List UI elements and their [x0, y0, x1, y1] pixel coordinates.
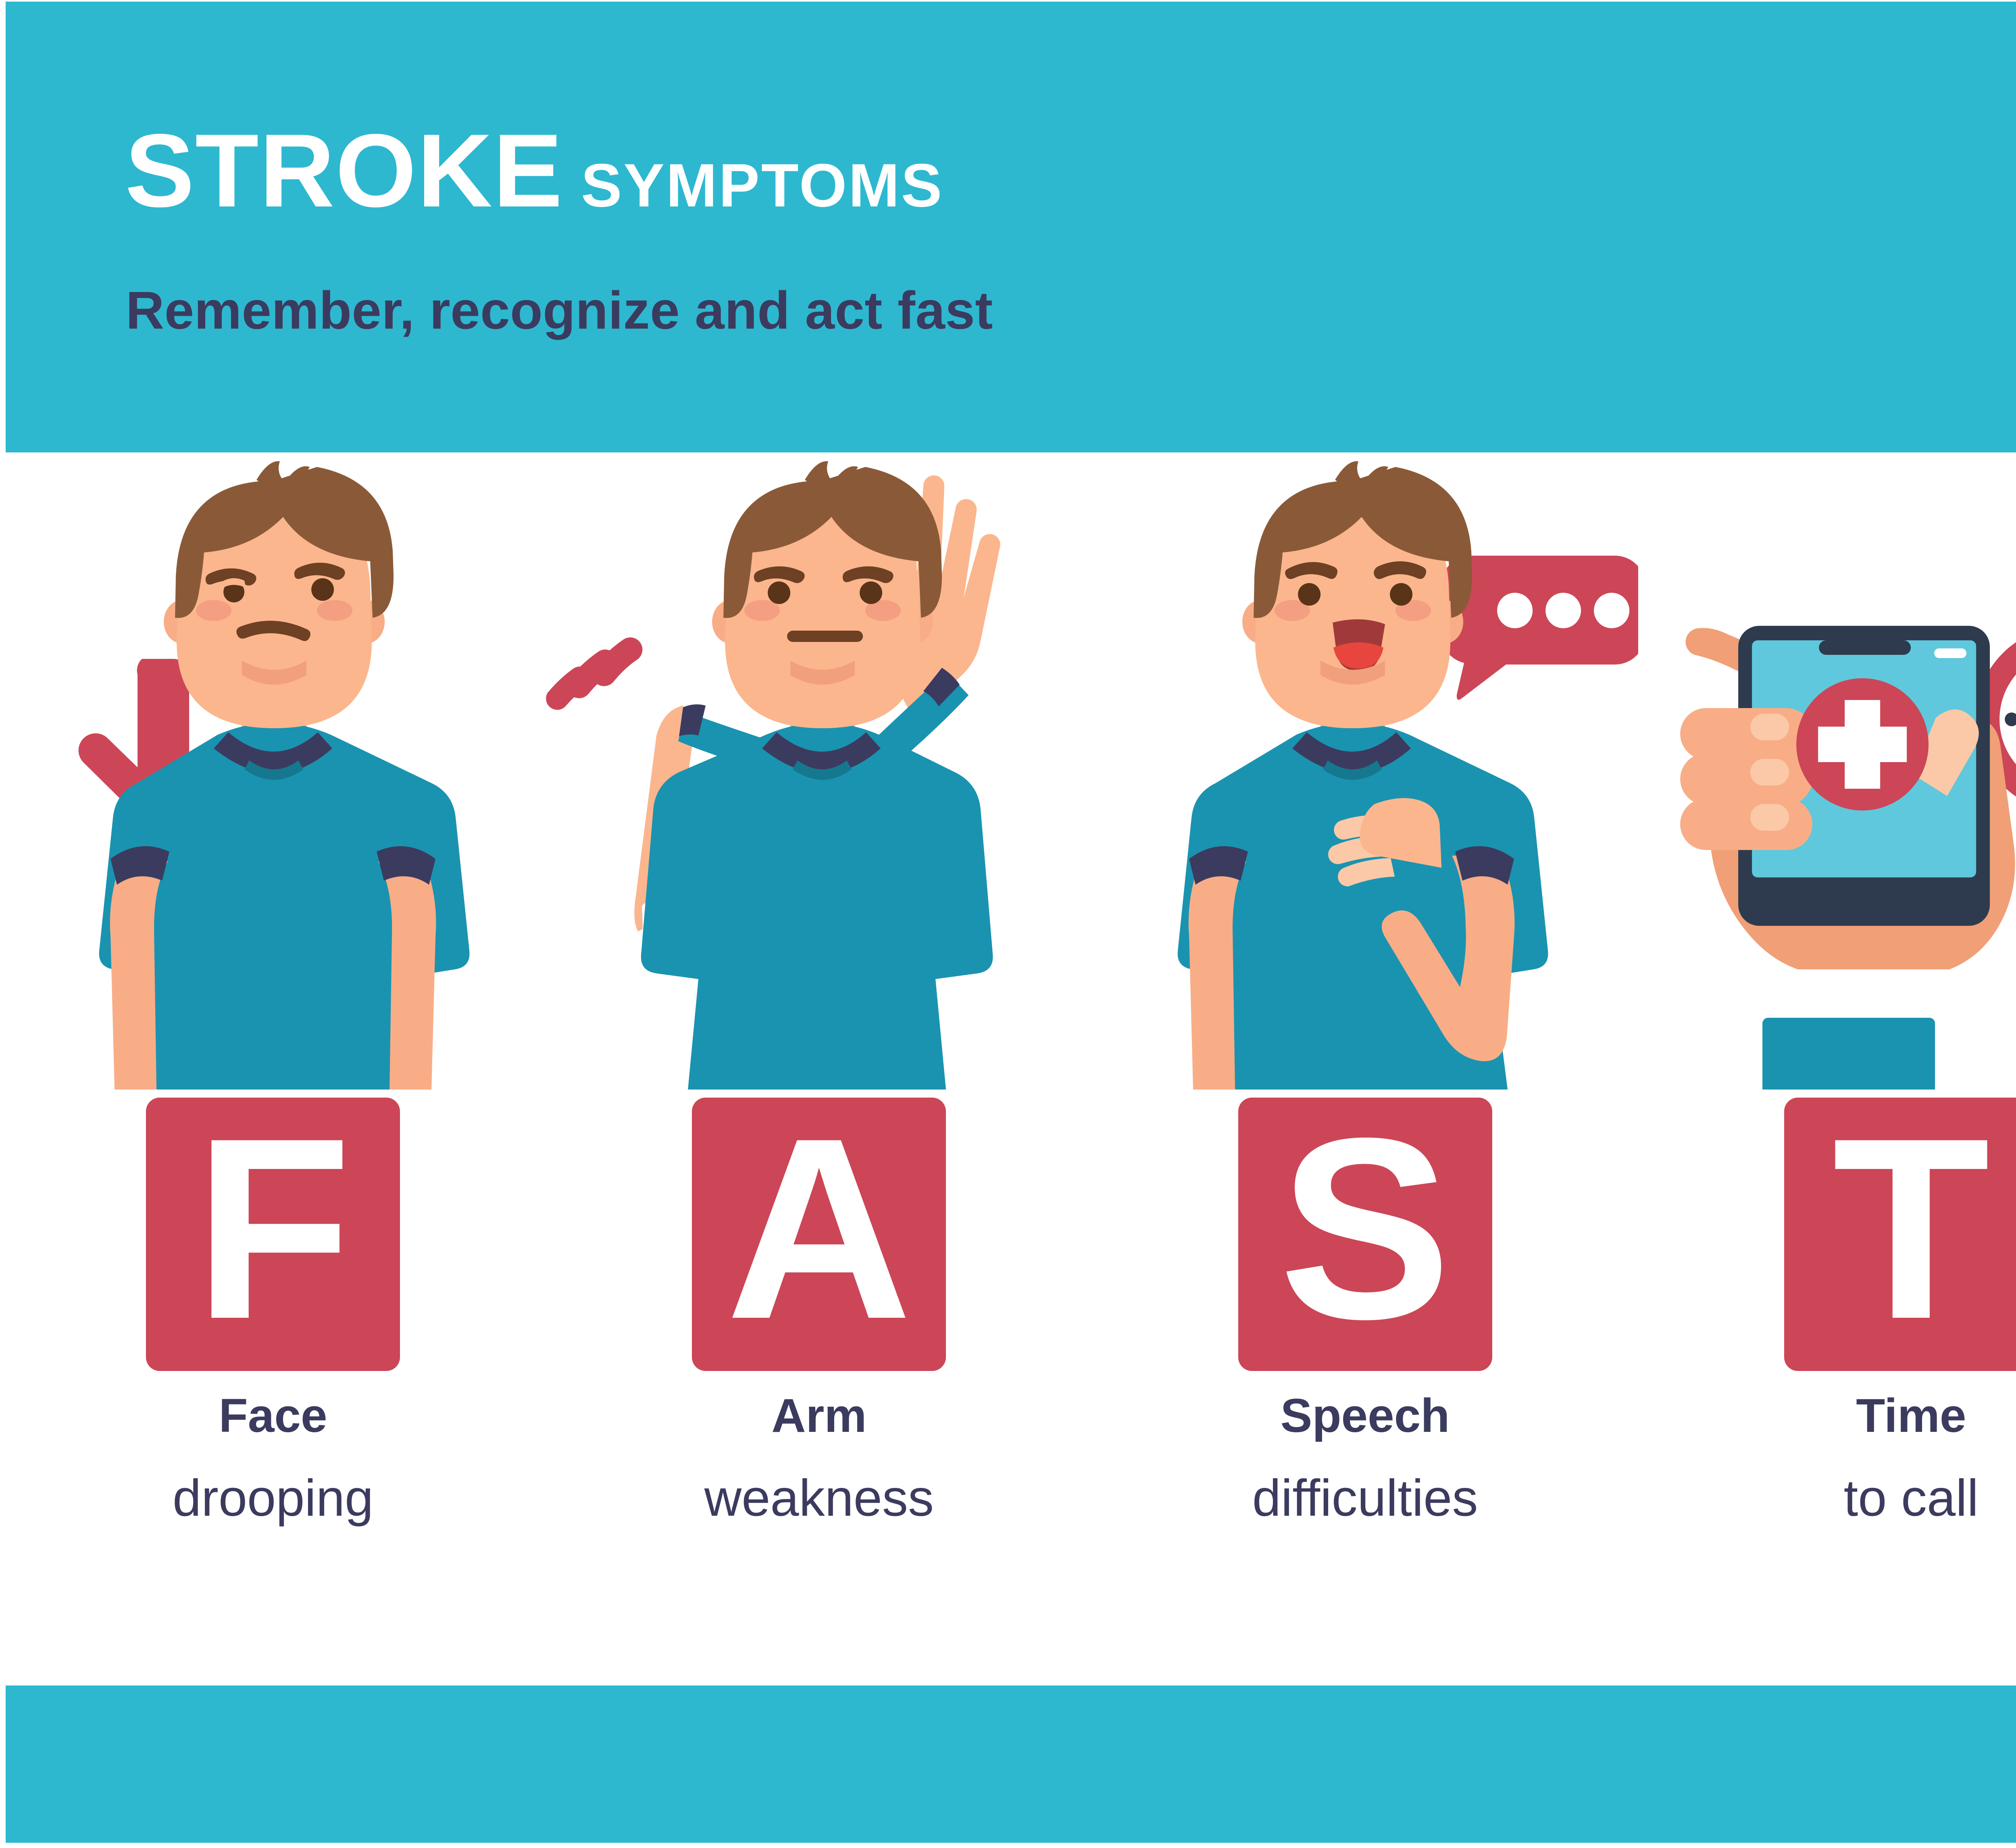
panel-title-speech: Speech: [1092, 1392, 1638, 1440]
letter-box-s[interactable]: S: [1238, 1098, 1492, 1371]
panel-arm[interactable]: A Arm weakness: [546, 452, 1092, 1685]
title-light: SYMPTOMS: [581, 155, 943, 216]
panel-subtitle-face: drooping: [0, 1473, 546, 1524]
panel-face[interactable]: F Face drooping: [0, 452, 546, 1685]
panel-subtitle-time: to call: [1638, 1473, 2016, 1524]
letter-glyph: F: [194, 1128, 352, 1329]
panel-time[interactable]: T Time to call: [1638, 452, 2016, 1685]
illustration-face-drooping: [0, 452, 546, 1090]
footer-band: [6, 1685, 2016, 1843]
fast-panels: F Face drooping: [0, 452, 2016, 1685]
letter-glyph: A: [726, 1128, 912, 1329]
letter-box-a[interactable]: A: [692, 1098, 946, 1371]
panel-title-face: Face: [0, 1392, 546, 1440]
panel-subtitle-speech: difficulties: [1092, 1473, 1638, 1524]
letter-box-t[interactable]: T: [1784, 1098, 2016, 1371]
page-title: STROKE SYMPTOMS: [125, 119, 943, 223]
illustration-time-to-call: [1638, 452, 2016, 1090]
panel-title-arm: Arm: [546, 1392, 1092, 1440]
letter-box-f[interactable]: F: [146, 1098, 400, 1371]
panel-title-time: Time: [1638, 1392, 2016, 1440]
motion-lines-icon: [546, 638, 642, 710]
letter-glyph: S: [1279, 1128, 1451, 1329]
panel-speech[interactable]: S Speech difficulties: [1092, 452, 1638, 1685]
panel-subtitle-arm: weakness: [546, 1473, 1092, 1524]
title-strong: STROKE: [125, 119, 563, 223]
illustration-speech-difficulties: [1092, 452, 1638, 1090]
page-subtitle: Remember, recognize and act fast: [126, 284, 993, 337]
letter-glyph: T: [1832, 1128, 1990, 1329]
illustration-arm-weakness: [546, 452, 1092, 1090]
header-band: STROKE SYMPTOMS Remember, recognize and …: [6, 2, 2016, 452]
